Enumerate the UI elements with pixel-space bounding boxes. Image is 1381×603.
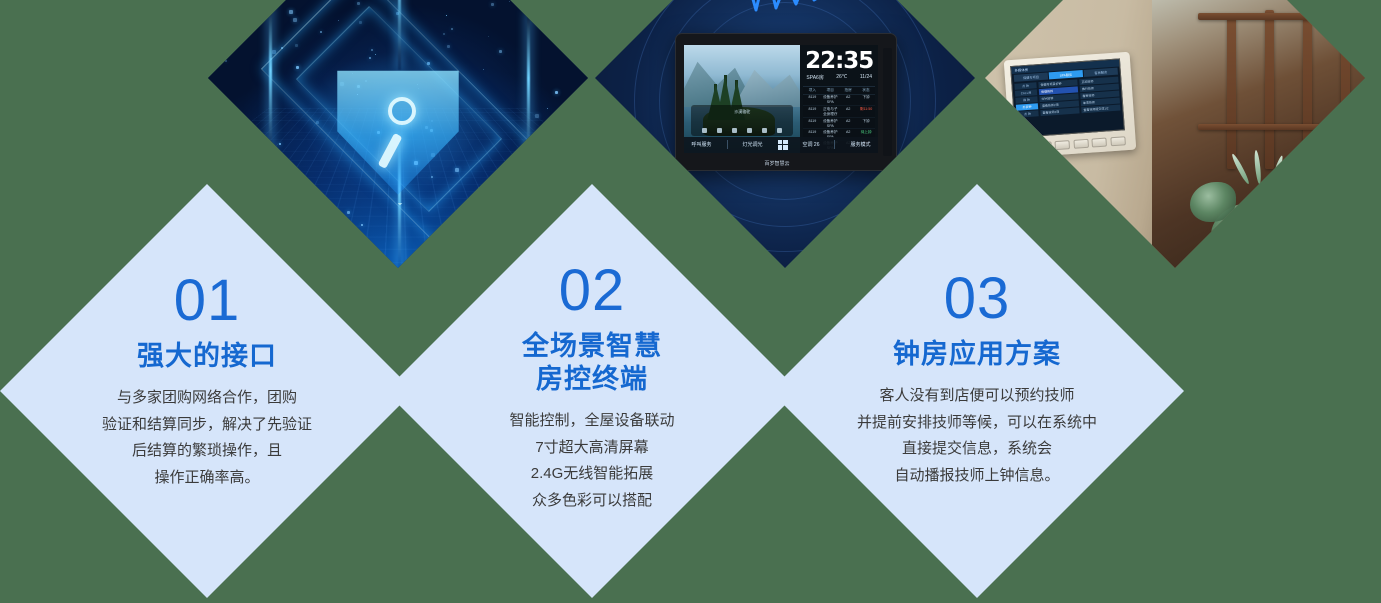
feature-card-02-number: 02 [385, 262, 799, 320]
media-track-title: 沙漠骆驼 [691, 109, 793, 115]
cell-item: 设备养护SPA [821, 119, 839, 128]
wall-panel-column-2: 正加技师 推行技师 看新技师 单项技师 查看技师提交项1/2 [1079, 77, 1120, 114]
desc-line: 后结算的繁琐操作，且 [0, 438, 414, 465]
cell-item: 设备养护SPA [821, 95, 839, 104]
wall-panel-screen[interactable]: 多媒体房 保健专项目 SPA服务 客房服务 点 钟 CALL师 换 钟 外卖钟 … [1010, 58, 1125, 137]
wall-panel-body: 点 钟 CALL师 换 钟 外卖钟 点 钟 保健专项目价钟 保健按师 SPA拾钟 [1012, 75, 1122, 118]
list-item[interactable]: 查看技师提交项1/2 [1081, 105, 1120, 114]
wall-panel-columns: 保健专项目价钟 保健按师 SPA拾钟 查看技师2项 查看技师2项 正加技师 推行… [1038, 77, 1120, 116]
circuit-speck [547, 108, 548, 109]
cell-status: 剩11:50 [857, 107, 875, 117]
circuit-speck [509, 1, 510, 2]
cell-room: A2 [839, 95, 857, 104]
feature-card-03-content: 03 钟房应用方案 客人没有到店便可以预约技师 并提前安排技师等候，可以在系统中… [770, 270, 1184, 490]
circuit-speck [248, 192, 251, 195]
desc-line: 2.4G无线智能拓展 [385, 461, 799, 488]
wall-panel-column-1: 保健专项目价钟 保健按师 SPA拾钟 查看技师2项 查看技师2项 [1038, 79, 1079, 116]
title-line: 全场景智慧 [385, 330, 799, 363]
clock-widget: 22:35 SPA6房 26℃ 11/24 [803, 48, 875, 84]
shield-lock-circuit-board-image [208, 0, 588, 268]
feature-card-02-title: 全场景智慧 房控终端 [385, 330, 799, 396]
circuit-speck [348, 233, 352, 237]
toolbar-lighting[interactable]: 灯光调光 [743, 141, 763, 148]
circuit-speck [446, 15, 447, 16]
clock-time: 22:35 [804, 50, 874, 73]
cell-id: 8119 [803, 119, 821, 128]
feature-card-01-description: 与多家团购网络合作，团购 验证和结算同步，解决了先验证 后结算的繁琐操作，且 操… [0, 385, 414, 492]
playlist-icon[interactable] [777, 128, 782, 133]
desc-line: 操作正确率高。 [0, 465, 414, 492]
next-icon[interactable] [747, 128, 752, 133]
plant-foliage [1190, 182, 1236, 222]
circuit-speck [555, 91, 558, 94]
circuit-speck [278, 211, 280, 213]
circuit-speck [274, 195, 276, 197]
shuffle-icon[interactable] [702, 128, 707, 133]
feature-card-02[interactable]: 02 全场景智慧 房控终端 智能控制，全屋设备联动 7寸超大高清屏幕 2.4G无… [385, 184, 799, 598]
feature-card-01-content: 01 强大的接口 与多家团购网络合作，团购 验证和结算同步，解决了先验证 后结算… [0, 272, 414, 492]
circuit-speck [451, 28, 453, 30]
col-header: 项入 [809, 88, 816, 93]
feature-card-01-number: 01 [0, 272, 414, 330]
wall-panel-side-buttons[interactable]: 点 钟 CALL师 换 钟 外卖钟 点 钟 [1014, 82, 1038, 117]
circuit-speck [488, 36, 489, 37]
cell-status: 下钟 [857, 95, 875, 104]
title-line: 钟房应用方案 [770, 338, 1184, 371]
circuit-speck [241, 3, 242, 4]
circuit-speck [483, 69, 484, 70]
divider [834, 140, 835, 149]
clock-subline: SPA6房 26℃ 11/24 [804, 73, 874, 81]
circuit-speck [289, 10, 293, 14]
side-button-dianzhong-2[interactable]: 点 钟 [1016, 110, 1038, 118]
desc-line: 直接提交信息，系统会 [770, 436, 1184, 463]
circuit-speck [225, 60, 227, 62]
cell-room: A2 [839, 107, 857, 117]
circuit-speck [366, 250, 370, 254]
light-beam [527, 10, 530, 162]
circuit-speck [581, 94, 582, 95]
desc-line: 智能控制，全屋设备联动 [385, 408, 799, 435]
circuit-speck [531, 177, 533, 179]
desc-line: 7寸超大高清屏幕 [385, 435, 799, 462]
table-row: 8119 设备养护SPA A2 下钟 [803, 118, 875, 129]
wood-post [1341, 0, 1350, 169]
window-and-corridor [1152, 0, 1365, 268]
toolbar-service-mode[interactable]: 服务模式 [850, 141, 870, 148]
tablet-device[interactable]: 沙漠骆驼 [675, 33, 897, 171]
wood-post [1303, 2, 1312, 169]
title-line: 强大的接口 [0, 340, 414, 373]
circuit-speck [545, 2, 547, 4]
circuit-speck [418, 253, 421, 256]
circuit-speck [527, 237, 530, 240]
media-controls[interactable] [691, 128, 793, 133]
previous-icon[interactable] [717, 128, 722, 133]
wall-control-panel-image: 多媒体房 保健专项目 SPA服务 客房服务 点 钟 CALL师 换 钟 外卖钟 … [985, 0, 1365, 268]
circuit-speck [583, 52, 587, 56]
cell-room: A2 [839, 119, 857, 128]
feature-card-01[interactable]: 01 强大的接口 与多家团购网络合作，团购 验证和结算同步，解决了先验证 后结算… [0, 184, 414, 598]
wood-post [1227, 17, 1236, 169]
desc-line: 验证和结算同步，解决了先验证 [0, 412, 414, 439]
feature-card-01-title: 强大的接口 [0, 340, 414, 373]
title-line: 房控终端 [385, 363, 799, 396]
tablet-brand-logo: 百岁智慧云 [676, 160, 878, 167]
hard-button-2[interactable] [1036, 141, 1052, 151]
play-icon[interactable] [732, 128, 737, 133]
tablet-bottom-toolbar[interactable]: 呼叫服务 灯光调光 空调 26 服务模式 [684, 137, 878, 153]
circuit-speck [499, 50, 502, 53]
feature-card-02-description: 智能控制，全屋设备联动 7寸超大高清屏幕 2.4G无线智能拓展 众多色彩可以搭配 [385, 408, 799, 515]
date-value: 11/24 [860, 74, 872, 80]
circuit-speck [511, 204, 514, 207]
service-table-header: 项入 项目 拍房 状态 [803, 87, 875, 95]
cell-status: 下钟 [857, 119, 875, 128]
hard-button-5[interactable] [1092, 138, 1108, 148]
heartbeat-waveform-icon [710, 0, 860, 18]
circuit-speck [563, 9, 565, 11]
circuit-artwork [208, 0, 588, 268]
desc-line: 客人没有到店便可以预约技师 [770, 383, 1184, 410]
circuit-speck [361, 224, 363, 226]
desc-line: 并提前安排技师等候，可以在系统中 [770, 410, 1184, 437]
wall-panel-hard-buttons[interactable] [1018, 136, 1126, 153]
circuit-speck [293, 18, 297, 22]
hard-button-6[interactable] [1110, 136, 1126, 146]
wall-control-panel-device[interactable]: 多媒体房 保健专项目 SPA服务 客房服务 点 钟 CALL师 换 钟 外卖钟 … [1004, 52, 1137, 159]
col-header: 项目 [827, 88, 834, 93]
feature-card-03-number: 03 [770, 270, 1184, 328]
tablet-side-strip [883, 48, 892, 156]
cell-id: 8119 [803, 107, 821, 117]
light-beam [269, 2, 272, 154]
infographic-stage: 01 强大的接口 与多家团购网络合作，团购 验证和结算同步，解决了先验证 后结算… [0, 0, 1381, 603]
toolbar-call-service[interactable]: 呼叫服务 [692, 141, 712, 148]
media-player-bar[interactable]: 沙漠骆驼 [691, 105, 793, 135]
tablet-artwork: 沙漠骆驼 [595, 0, 975, 268]
hard-button-3[interactable] [1055, 140, 1071, 150]
circuit-speck [459, 242, 461, 244]
circuit-speck [259, 227, 262, 230]
table-row: 8119 设备养护SPA A2 下钟 [803, 95, 875, 106]
feature-card-03-description: 客人没有到店便可以预约技师 并提前安排技师等候，可以在系统中 直接提交信息，系统… [770, 383, 1184, 490]
desc-line: 自动播报技师上钟信息。 [770, 463, 1184, 490]
circuit-speck [491, 3, 494, 6]
apps-grid-icon[interactable] [778, 140, 788, 150]
circuit-speck [579, 172, 580, 173]
wood-post [1265, 10, 1274, 170]
circuit-speck [212, 130, 215, 133]
toolbar-aircon[interactable]: 空调 26 [803, 141, 820, 148]
circuit-speck [279, 143, 281, 145]
room-artwork: 多媒体房 保健专项目 SPA服务 客房服务 点 钟 CALL师 换 钟 外卖钟 … [985, 0, 1365, 268]
circuit-speck [326, 224, 329, 227]
list-item[interactable]: 查看技师2项 [1040, 107, 1079, 116]
desc-line: 众多色彩可以搭配 [385, 488, 799, 515]
cell-id: 8119 [803, 95, 821, 104]
smart-room-tablet-image: 沙漠骆驼 [595, 0, 975, 268]
feature-card-03[interactable]: 03 钟房应用方案 客人没有到店便可以预约技师 并提前安排技师等候，可以在系统中… [770, 184, 1184, 598]
circuit-speck [347, 211, 350, 214]
col-header: 拍房 [845, 88, 852, 93]
feature-card-02-content: 02 全场景智慧 房控终端 智能控制，全屋设备联动 7寸超大高清屏幕 2.4G无… [385, 262, 799, 515]
table-row: 8119 正电与子全身理疗 A2 剩11:50 [803, 106, 875, 118]
circuit-speck [484, 246, 486, 248]
circuit-speck [571, 27, 573, 29]
circuit-speck [447, 45, 450, 48]
temperature-value: 26℃ [836, 74, 847, 80]
feature-card-03-title: 钟房应用方案 [770, 338, 1184, 371]
circuit-speck [586, 18, 588, 22]
wood-rail [1198, 13, 1358, 20]
circuit-speck [581, 54, 583, 56]
circuit-speck [433, 250, 434, 251]
hard-button-4[interactable] [1073, 139, 1089, 149]
divider [727, 140, 728, 149]
desc-line: 与多家团购网络合作，团购 [0, 385, 414, 412]
lock-keyhole-icon [388, 97, 416, 125]
hard-button-1[interactable] [1018, 143, 1034, 153]
light-beam [398, 0, 401, 70]
cell-item: 正电与子全身理疗 [821, 107, 839, 117]
circuit-speck [561, 16, 563, 18]
room-label: SPA6房 [806, 74, 823, 81]
circuit-speck [443, 33, 445, 35]
wood-rail [1198, 124, 1358, 130]
col-header: 状态 [862, 88, 869, 93]
volume-icon[interactable] [762, 128, 767, 133]
circuit-speck [535, 114, 539, 118]
circuit-speck [288, 236, 289, 237]
